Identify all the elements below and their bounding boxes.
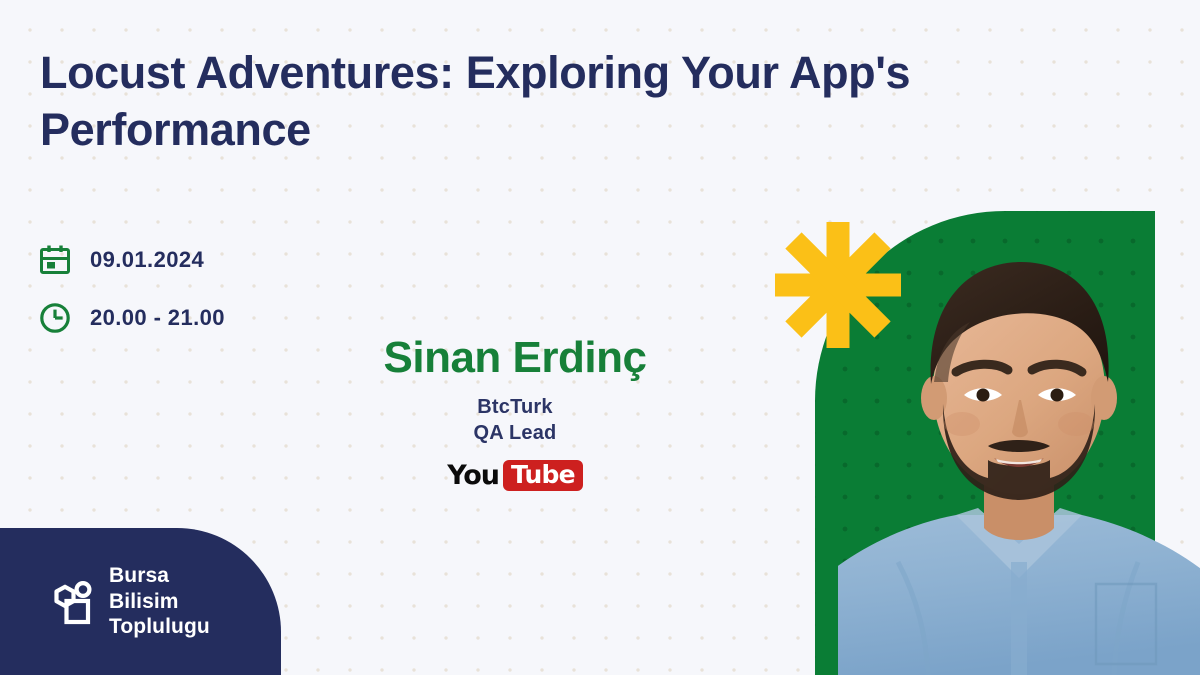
brand-panel: Bursa Bilisim Toplulugu bbox=[0, 528, 281, 675]
event-time: 20.00 - 21.00 bbox=[90, 305, 225, 331]
event-date: 09.01.2024 bbox=[90, 247, 204, 273]
bursa-bilisim-toplulugu-logo-icon bbox=[46, 578, 96, 626]
youtube-logo-tube: Tube bbox=[503, 460, 583, 491]
clock-icon bbox=[38, 301, 72, 335]
event-date-row: 09.01.2024 bbox=[38, 238, 225, 282]
brand-line-3: Toplulugu bbox=[109, 614, 210, 640]
speaker-company: BtcTurk bbox=[330, 394, 700, 420]
speaker-role: QA Lead bbox=[330, 420, 700, 446]
brand-line-1: Bursa bbox=[109, 563, 210, 589]
calendar-icon bbox=[38, 243, 72, 277]
event-meta: 09.01.2024 20.00 - 21.00 bbox=[38, 238, 225, 354]
speaker-name: Sinan Erdinç bbox=[330, 335, 700, 381]
speaker-block: Sinan Erdinç BtcTurk QA Lead You Tube bbox=[330, 335, 700, 490]
page-title: Locust Adventures: Exploring Your App's … bbox=[40, 44, 970, 158]
event-poster: Locust Adventures: Exploring Your App's … bbox=[0, 0, 1200, 675]
brand-line-2: Bilisim bbox=[109, 589, 210, 615]
event-time-row: 20.00 - 21.00 bbox=[38, 296, 225, 340]
brand-name: Bursa Bilisim Toplulugu bbox=[109, 563, 210, 640]
youtube-logo-you: You bbox=[447, 462, 499, 489]
speaker-portrait bbox=[838, 232, 1200, 675]
youtube-logo[interactable]: You Tube bbox=[330, 460, 700, 490]
